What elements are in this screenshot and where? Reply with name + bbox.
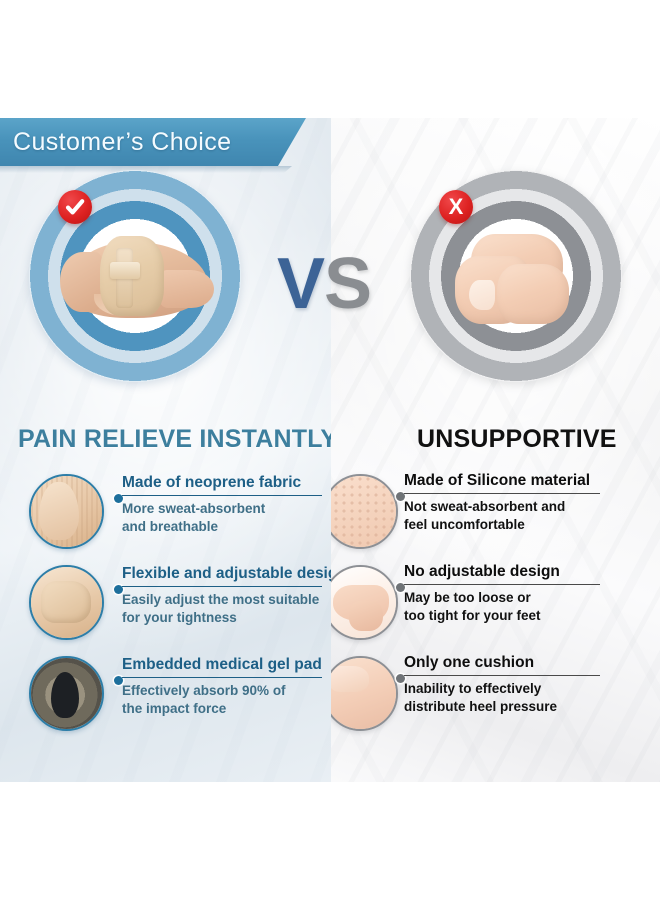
silicone-sock-thumbnail [331, 565, 398, 640]
list-item: Made of neoprene fabric More sweat-absor… [0, 470, 331, 561]
feature-desc-line-2: the impact force [122, 700, 331, 718]
left-feature-text: Embedded medical gel pad Effectively abs… [122, 656, 331, 717]
feature-desc-line-2: distribute heel pressure [404, 698, 654, 716]
feature-desc-line-1: More sweat-absorbent [122, 500, 331, 518]
check-icon [58, 190, 92, 224]
feature-underline [404, 675, 600, 676]
feature-desc-line-2: and breathable [122, 518, 331, 536]
list-item: Embedded medical gel pad Effectively abs… [0, 652, 331, 743]
feature-desc-line-2: feel uncomfortable [404, 516, 654, 534]
versus-label: V S [277, 248, 371, 320]
feature-underline [122, 495, 322, 496]
comparison-content: Customer’s Choice PAIN R [0, 118, 660, 782]
gel-pad-thumbnail [29, 656, 104, 731]
feature-desc-line-1: Not sweat-absorbent and [404, 498, 654, 516]
right-feature-text: Only one cushion Inability to effectivel… [404, 654, 654, 715]
feature-underline [404, 493, 600, 494]
right-feature-list: Made of Silicone material Not sweat-abso… [331, 470, 660, 743]
infographic-canvas: Customer’s Choice PAIN R [0, 0, 660, 900]
feature-title: Made of neoprene fabric [122, 474, 331, 492]
customers-choice-ribbon: Customer’s Choice [0, 118, 306, 166]
feature-title: Embedded medical gel pad [122, 656, 331, 674]
list-item: Flexible and adjustable design Easily ad… [0, 561, 331, 652]
feature-desc-line-1: Inability to effectively [404, 680, 654, 698]
list-item: No adjustable design May be too loose or… [331, 561, 660, 652]
right-feature-text: No adjustable design May be too loose or… [404, 563, 654, 624]
feature-title: No adjustable design [404, 563, 654, 581]
feature-desc-line-1: May be too loose or [404, 589, 654, 607]
left-feature-text: Flexible and adjustable design Easily ad… [122, 565, 331, 626]
silicone-cup-notch [469, 280, 495, 310]
ribbon-title: Customer’s Choice [0, 128, 231, 157]
feature-underline [122, 586, 322, 587]
feature-underline [404, 584, 600, 585]
neoprene-fabric-thumbnail [29, 474, 104, 549]
silicone-cushion-thumbnail [331, 656, 398, 731]
silicone-cups-image [453, 230, 579, 330]
left-feature-text: Made of neoprene fabric More sweat-absor… [122, 474, 331, 535]
list-item: Only one cushion Inability to effectivel… [331, 652, 660, 743]
feature-title: Flexible and adjustable design [122, 565, 331, 583]
left-section-title: PAIN RELIEVE INSTANTLY [18, 425, 331, 454]
versus-s: S [324, 248, 371, 320]
cross-icon: X [439, 190, 473, 224]
right-section-title: UNSUPPORTIVE [417, 425, 617, 454]
feature-desc-line-2: too tight for your feet [404, 607, 654, 625]
right-panel-unsupportive: X UNSUPPORTIVE Made of Silicone material… [331, 118, 660, 782]
feature-title: Made of Silicone material [404, 472, 654, 490]
brace-velcro-tab [110, 262, 140, 279]
left-feature-list: Made of neoprene fabric More sweat-absor… [0, 470, 331, 743]
left-panel-customers-choice: Customer’s Choice PAIN R [0, 118, 331, 782]
feature-underline [122, 677, 322, 678]
foot-toes [158, 270, 214, 308]
feature-desc-line-2: for your tightness [122, 609, 331, 627]
feature-title: Only one cushion [404, 654, 654, 672]
versus-v: V [277, 248, 324, 320]
silicone-cup-right [497, 264, 569, 324]
adjustable-strap-thumbnail [29, 565, 104, 640]
feature-desc-line-1: Effectively absorb 90% of [122, 682, 331, 700]
silicone-texture-thumbnail [331, 474, 398, 549]
feature-desc-line-1: Easily adjust the most suitable [122, 591, 331, 609]
foot-with-brace-image [60, 232, 210, 328]
cross-icon-label: X [449, 196, 464, 218]
right-feature-text: Made of Silicone material Not sweat-abso… [404, 472, 654, 533]
list-item: Made of Silicone material Not sweat-abso… [331, 470, 660, 561]
